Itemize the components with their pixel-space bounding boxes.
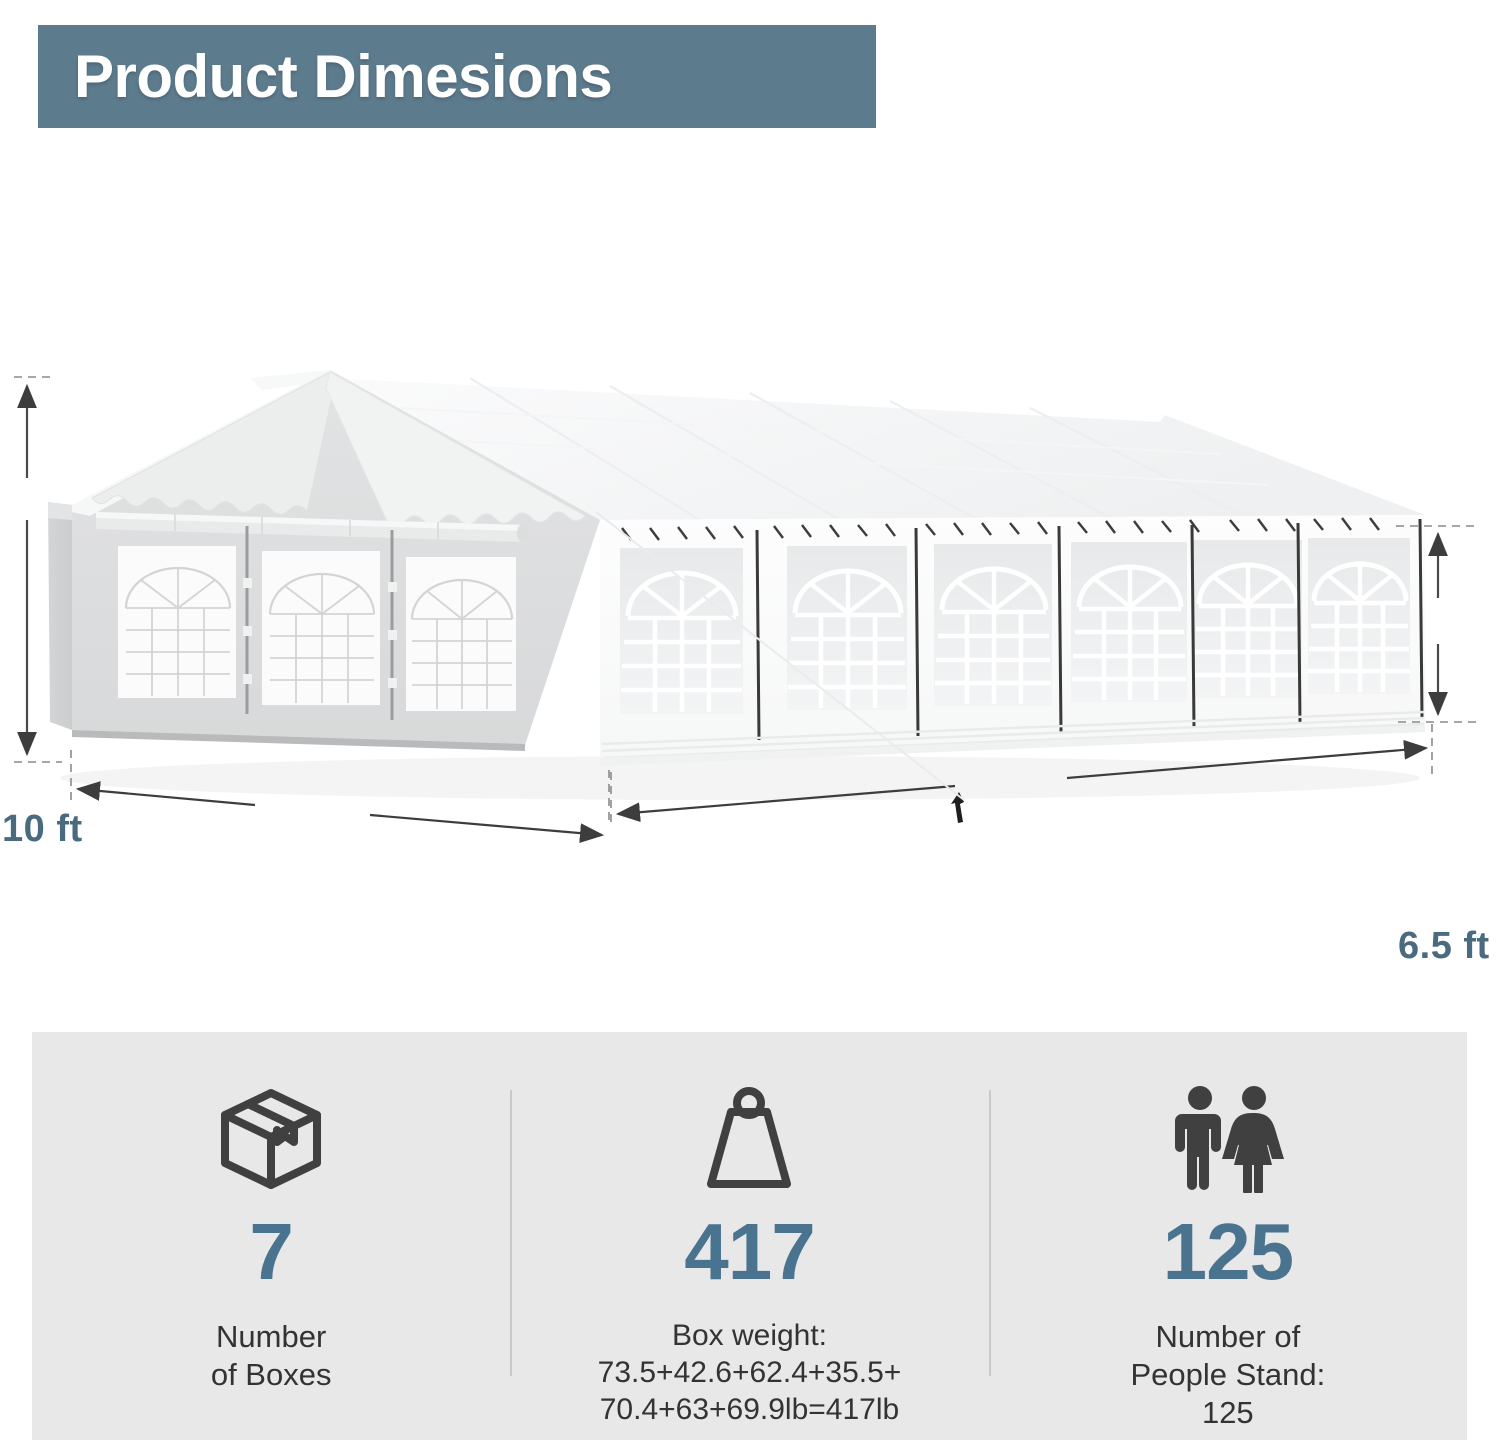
box-icon xyxy=(215,1080,327,1198)
spec-cell-boxes: 7 Number of Boxes xyxy=(32,1032,510,1440)
ground-shadow xyxy=(60,756,1420,800)
spec-value-weight: 417 xyxy=(684,1212,814,1292)
dimension-label-height-peak: 10 ft xyxy=(2,808,83,851)
spec-cell-people: 125 Number of People Stand: 125 xyxy=(989,1032,1467,1440)
gable-window xyxy=(262,551,380,705)
side-window xyxy=(1192,540,1302,698)
gable-windows xyxy=(118,546,516,711)
side-window xyxy=(620,548,743,714)
side-window xyxy=(1308,538,1410,694)
spec-caption-people: Number of People Stand: 125 xyxy=(1130,1318,1325,1432)
spec-value-people: 125 xyxy=(1163,1212,1293,1292)
spec-panel: 7 Number of Boxes 417 Box weight: 73.5+4… xyxy=(32,1032,1467,1440)
side-windows xyxy=(620,538,1410,714)
spec-caption-boxes: Number of Boxes xyxy=(211,1318,332,1394)
side-window xyxy=(934,544,1052,706)
tent-svg xyxy=(0,330,1500,890)
spec-value-boxes: 7 xyxy=(249,1212,293,1292)
gable-window xyxy=(406,557,516,711)
dimension-label-height-eave: 6.5 ft xyxy=(1398,925,1490,968)
weight-icon xyxy=(695,1080,803,1198)
tent-illustration: 10 ft 6.5 ft 20 ft 40 ft xyxy=(0,330,1500,890)
gable-window xyxy=(118,546,236,698)
infographic-root: Product Dimesions xyxy=(0,0,1500,1448)
side-window xyxy=(787,546,907,710)
spec-cell-weight: 417 Box weight: 73.5+42.6+62.4+35.5+ 70.… xyxy=(510,1032,988,1440)
side-window xyxy=(1071,542,1187,702)
tent-side-wall xyxy=(600,515,1425,766)
page-title: Product Dimesions xyxy=(74,47,612,107)
spec-caption-weight: Box weight: 73.5+42.6+62.4+35.5+ 70.4+63… xyxy=(598,1318,902,1429)
woman-figure xyxy=(1222,1086,1284,1193)
people-icon xyxy=(1166,1080,1290,1198)
header-banner: Product Dimesions xyxy=(38,25,876,128)
man-figure xyxy=(1175,1086,1221,1190)
